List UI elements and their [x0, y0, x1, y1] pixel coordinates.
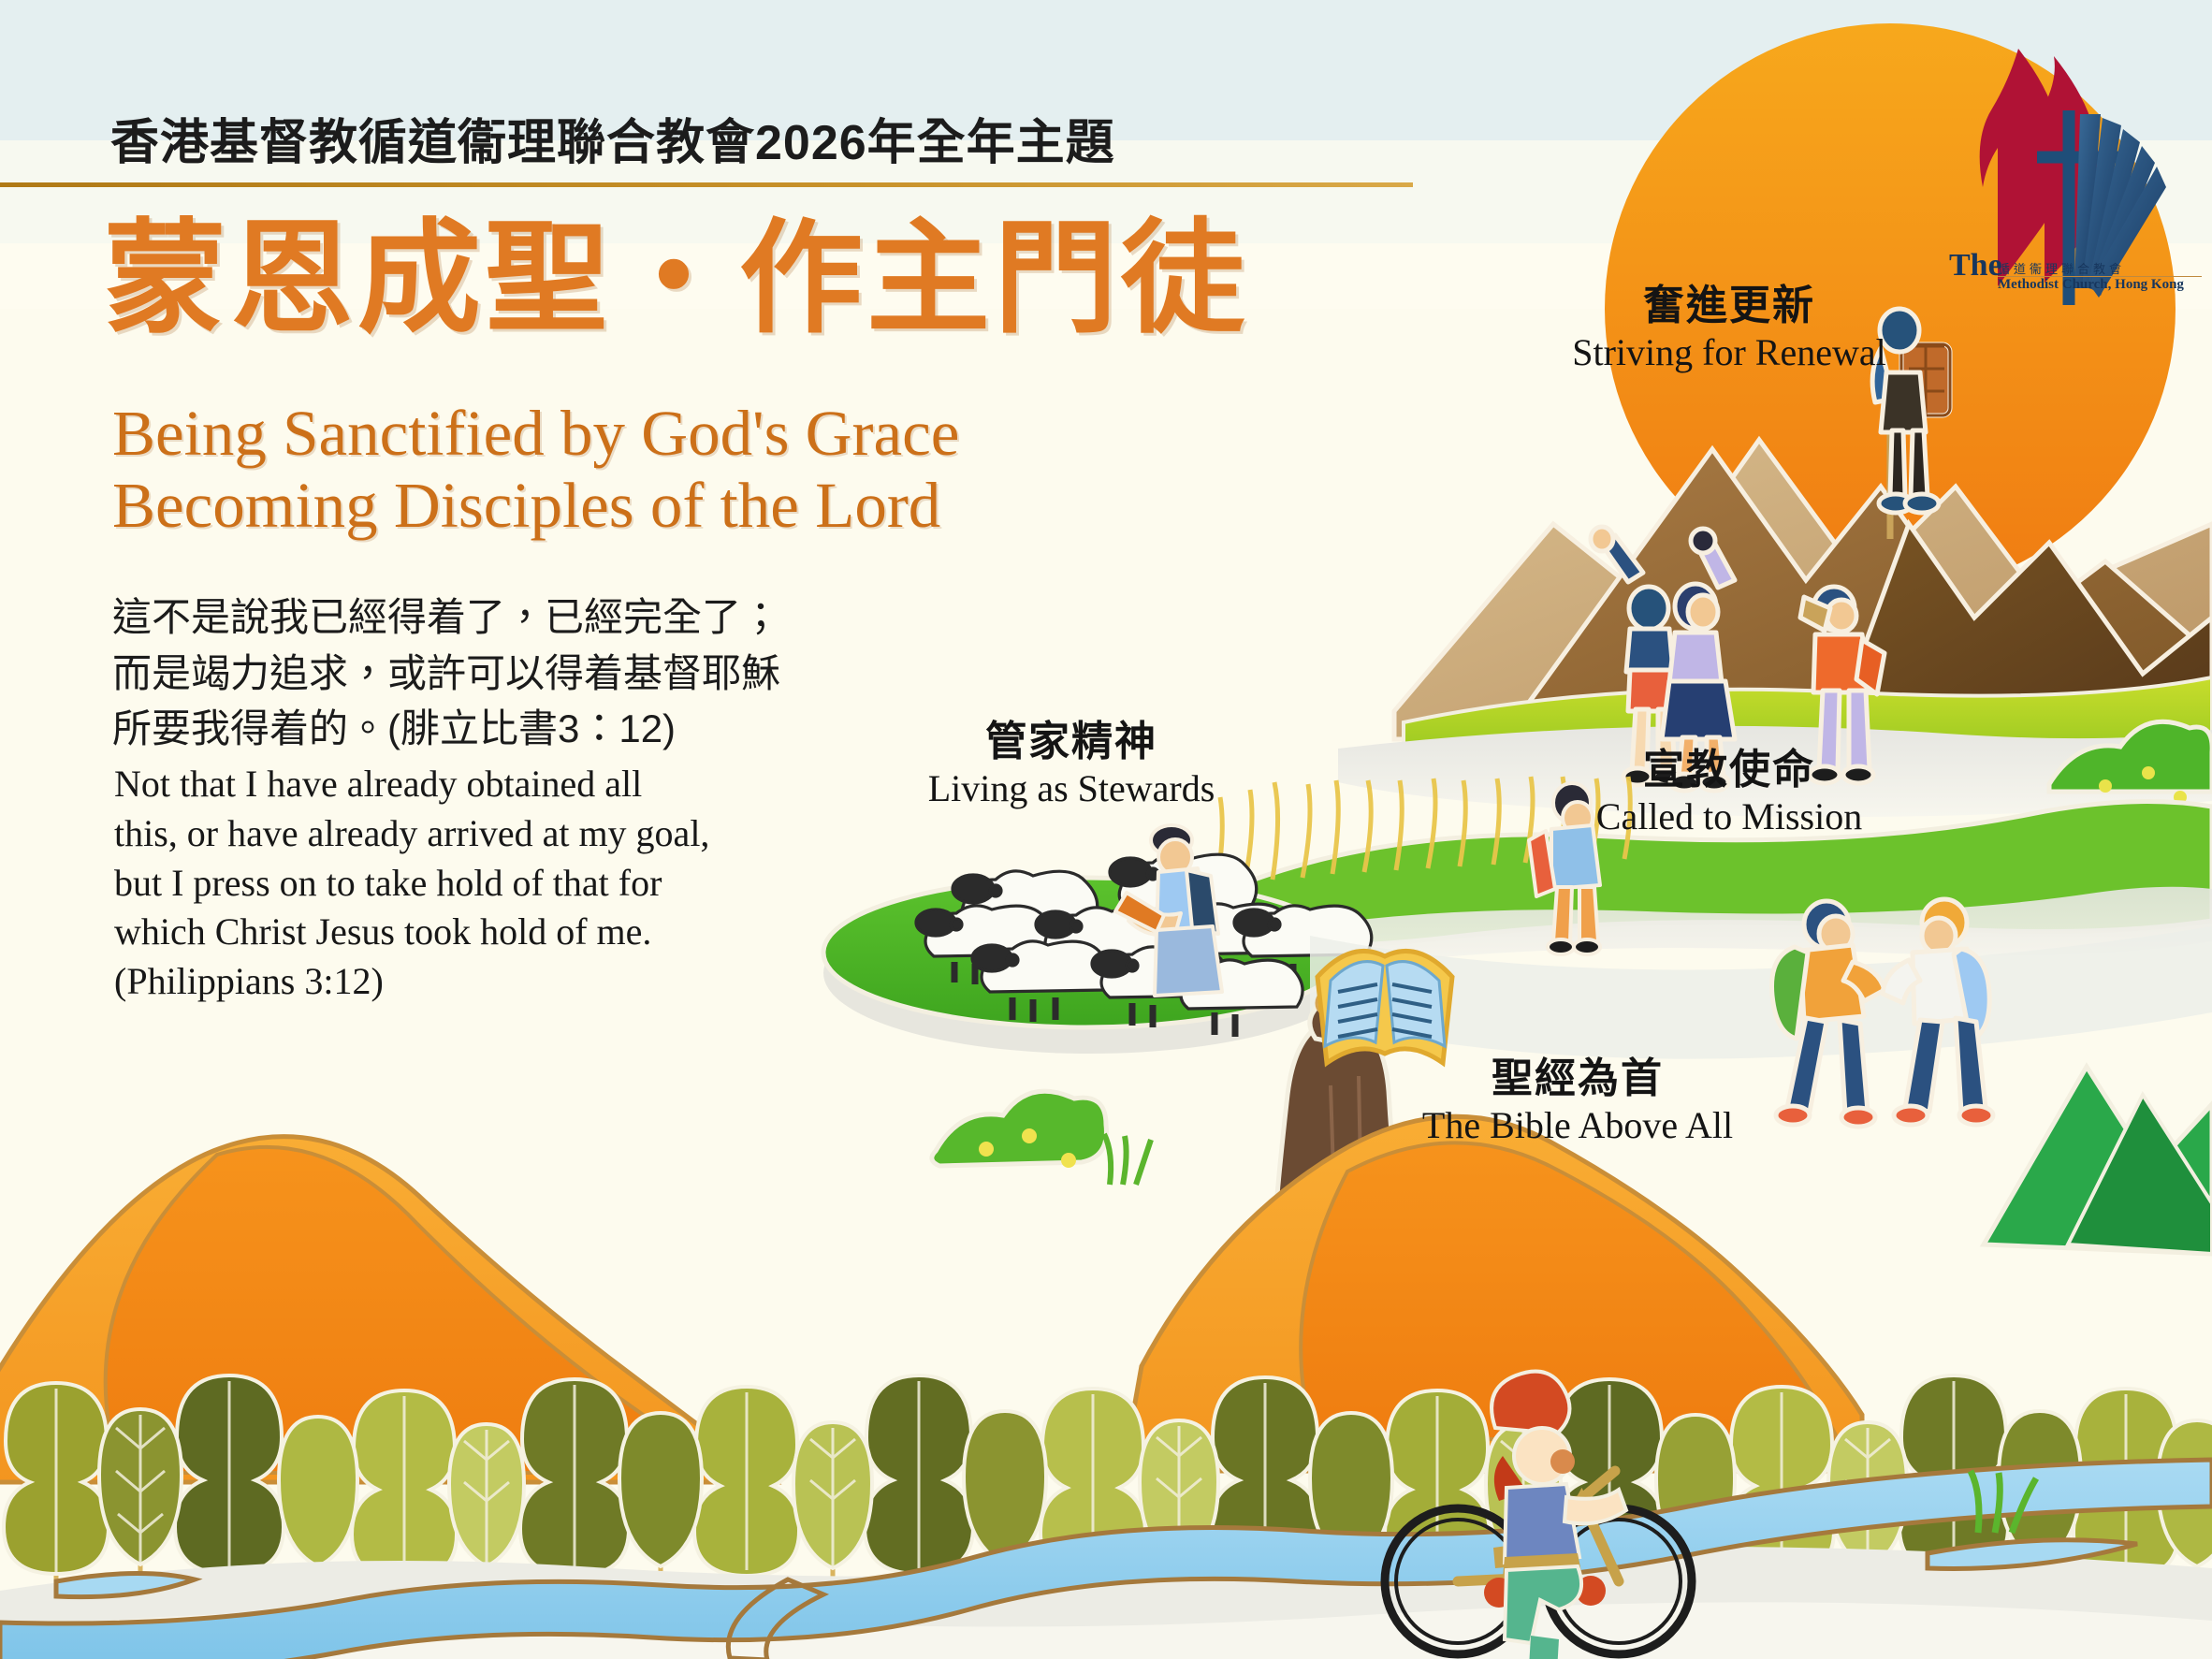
poster-root: 香港基督教循道衞理聯合教會2026年全年主題 蒙恩成聖・作主門徒 Being S…: [0, 0, 2212, 1659]
main-theme-title-chinese: 蒙恩成聖・作主門徒: [103, 213, 1248, 344]
section-label-called-to-mission: 宣教使命 Called to Mission: [1579, 747, 1879, 839]
section-label-stewards-chinese: 管家精神: [917, 719, 1226, 766]
section-label-living-as-stewards: 管家精神 Living as Stewards: [917, 719, 1226, 811]
logo-caption-english: Methodist Church, Hong Kong: [1998, 276, 2202, 292]
logo-caption-chinese: 循道衞理聯合教會: [1998, 263, 2202, 275]
scripture-verse-chinese: 這不是說我已經得着了，已經完全了； 而是竭力追求，或許可以得着基督耶穌 所要我得…: [112, 589, 780, 757]
section-label-bible-above-all: 聖經為首 The Bible Above All: [1419, 1055, 1737, 1148]
main-theme-title-english-line2: Becoming Disciples of the Lord: [112, 470, 959, 542]
logo-caption-the: The: [1949, 250, 2002, 282]
section-label-mission-chinese: 宣教使命: [1579, 747, 1879, 794]
section-label-stewards-english: Living as Stewards: [917, 766, 1226, 811]
title-divider-rule: [0, 182, 1413, 187]
section-label-striving-for-renewal: 奮進更新 Striving for Renewal: [1542, 283, 1916, 375]
logo-caption: The 循道衞理聯合教會 Methodist Church, Hong Kong: [1949, 250, 2202, 292]
scripture-verse-english: Not that I have already obtained all thi…: [114, 760, 709, 1007]
section-label-bible-chinese: 聖經為首: [1419, 1055, 1737, 1103]
section-label-renewal-english: Striving for Renewal: [1542, 330, 1916, 375]
page-header-title: 香港基督教循道衞理聯合教會2026年全年主題: [110, 103, 1115, 173]
section-label-renewal-chinese: 奮進更新: [1542, 283, 1916, 330]
main-theme-title-english: Being Sanctified by God's Grace Becoming…: [112, 398, 959, 543]
main-theme-title-english-line1: Being Sanctified by God's Grace: [112, 398, 959, 470]
section-label-mission-english: Called to Mission: [1579, 794, 1879, 839]
section-label-bible-english: The Bible Above All: [1419, 1103, 1737, 1148]
